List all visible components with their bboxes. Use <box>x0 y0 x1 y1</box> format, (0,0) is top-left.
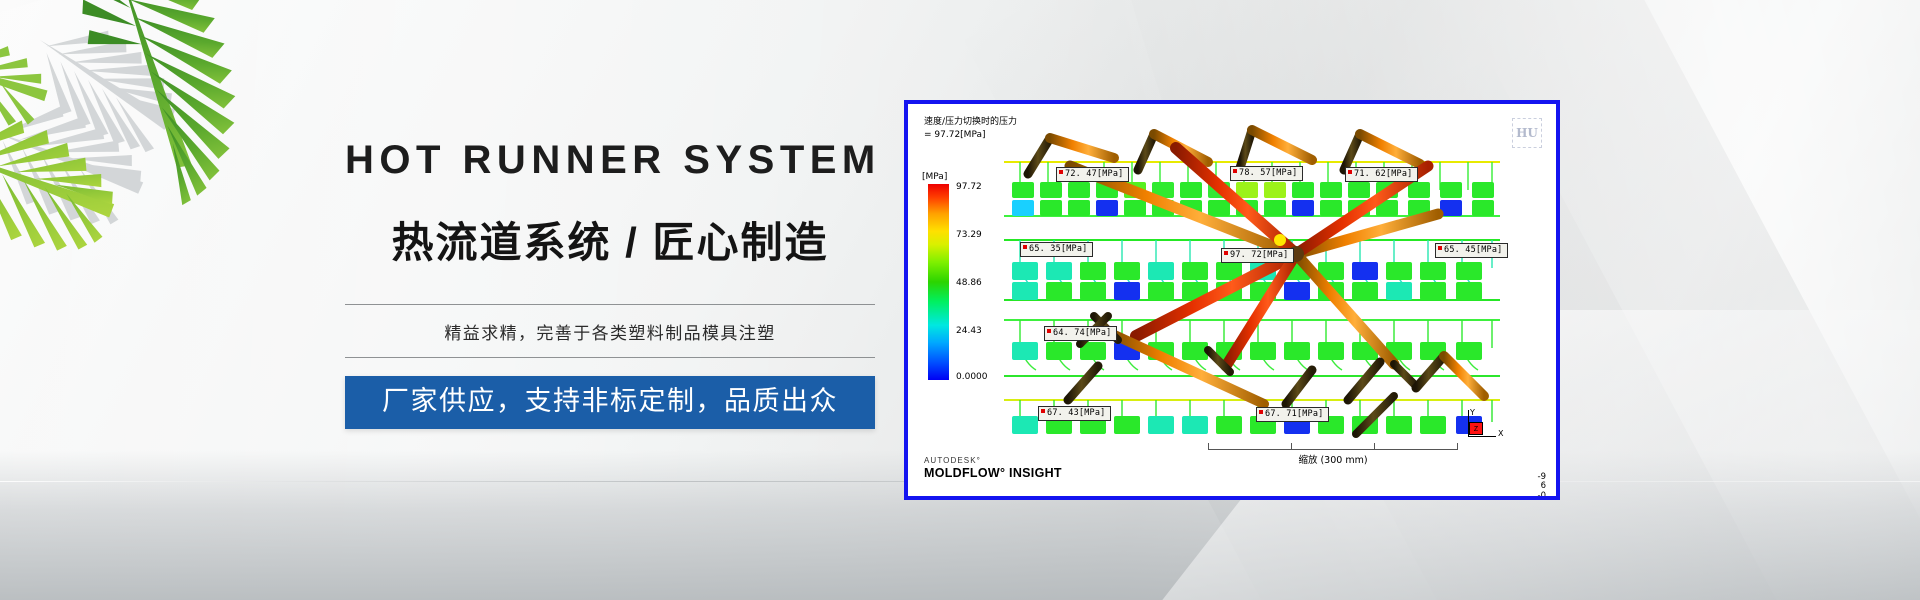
page-subtitle: 精益求精，完善于各类塑料制品模具注塑 <box>345 305 875 357</box>
colorbar-tick-3: 24.43 <box>956 326 982 336</box>
figure-result-title: 速度/压力切换时的压力 = 97.72[MPa] <box>924 116 1017 142</box>
colorbar-body: 97.72 73.29 48.86 24.43 0.0000 <box>922 184 1014 380</box>
subtitle-group: 精益求精，完善于各类塑料制品模具注塑 <box>345 304 875 358</box>
moldflow-canvas: 速度/压力切换时的压力 = 97.72[MPa] [MPa] 97.72 73.… <box>908 104 1556 496</box>
pressure-callout: 64. 74[MPa] <box>1044 326 1117 341</box>
pressure-callout-max: 97. 72[MPa] <box>1221 248 1294 263</box>
page-title-english: HOT RUNNER SYSTEM <box>345 140 875 180</box>
scale-bar-line <box>1208 443 1458 450</box>
colorbar-tick-0: 97.72 <box>956 182 982 192</box>
scale-bar-label: 缩放 (300 mm) <box>1208 452 1458 466</box>
pressure-callout: 72. 47[MPa] <box>1056 167 1129 182</box>
figure-title-line1: 速度/压力切换时的压力 <box>924 117 1017 127</box>
axis-z-label: Z <box>1470 423 1482 436</box>
pressure-callout: 65. 45[MPa] <box>1435 243 1508 258</box>
figure-title-line2: = 97.72[MPa] <box>924 130 986 140</box>
page-title-chinese: 热流道系统 / 匠心制造 <box>345 222 875 264</box>
hu-watermark-icon: HU <box>1512 118 1542 148</box>
palm-leaf-icon <box>0 0 330 300</box>
colorbar-tick-2: 48.86 <box>956 278 982 288</box>
axis-z-marker: Z <box>1469 422 1483 435</box>
brand-product-label: MOLDFLOW° INSIGHT <box>924 466 1062 480</box>
colorbar-tick-1: 73.29 <box>956 230 982 240</box>
axis-y-label: Y <box>1470 408 1475 417</box>
pressure-colorbar: [MPa] 97.72 73.29 48.86 24.43 0.0000 <box>922 172 1014 380</box>
axis-x-line <box>1468 436 1496 437</box>
autodesk-brand: AUTODESK° MOLDFLOW° INSIGHT <box>924 456 1062 480</box>
axis-x-label: X <box>1498 429 1503 438</box>
axis-triad-icon: Z Y X <box>1458 410 1514 460</box>
palm-leaf-decoration <box>0 0 330 300</box>
colorbar-tick-4: 0.0000 <box>956 372 988 382</box>
pressure-callout: 67. 71[MPa] <box>1256 407 1329 422</box>
colorbar-unit-label: [MPa] <box>922 172 1014 182</box>
pressure-callout: 78. 57[MPa] <box>1230 166 1303 181</box>
moldflow-figure: 速度/压力切换时的压力 = 97.72[MPa] [MPa] 97.72 73.… <box>904 100 1560 500</box>
pressure-callout: 71. 62[MPa] <box>1345 167 1418 182</box>
hero-banner: HOT RUNNER SYSTEM 热流道系统 / 匠心制造 精益求精，完善于各… <box>0 0 1920 600</box>
colorbar-gradient <box>928 184 949 380</box>
brand-autodesk-label: AUTODESK° <box>924 456 1062 465</box>
cta-banner[interactable]: 厂家供应，支持非标定制，品质出众 <box>345 376 875 429</box>
pressure-callout: 67. 43[MPa] <box>1038 406 1111 421</box>
hero-text-block: HOT RUNNER SYSTEM 热流道系统 / 匠心制造 精益求精，完善于各… <box>345 140 875 429</box>
divider-bottom <box>345 357 875 358</box>
scale-bar: 缩放 (300 mm) <box>1208 443 1458 466</box>
pressure-callout: 65. 35[MPa] <box>1020 242 1093 257</box>
divider-top <box>345 304 875 305</box>
axis-coordinate-readout: -9 6 -0 <box>1538 473 1546 496</box>
